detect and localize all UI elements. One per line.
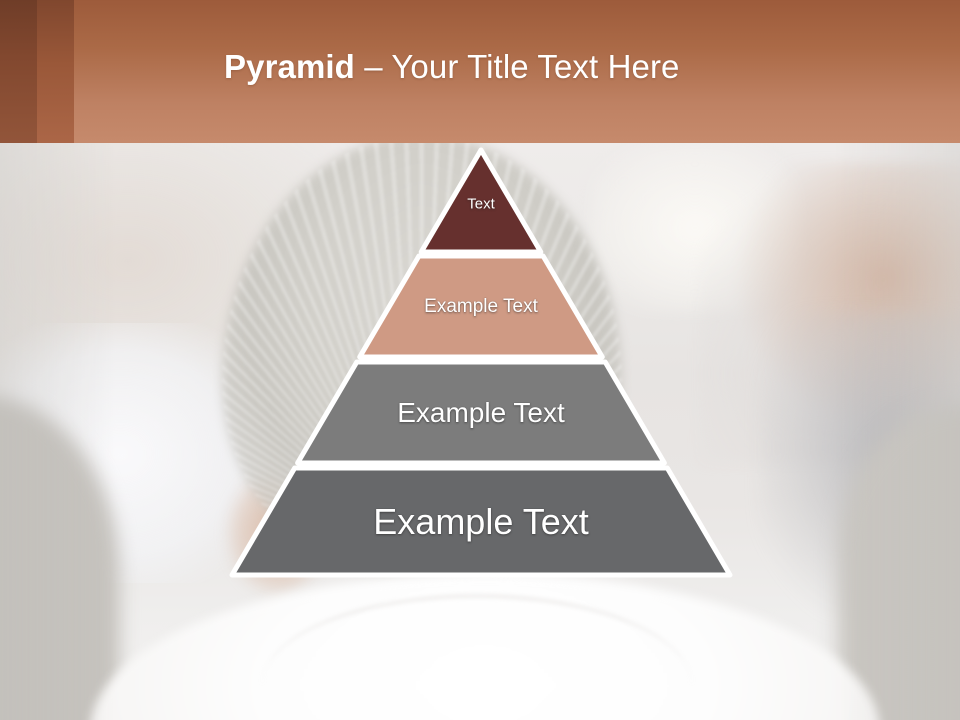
title-banner: Pyramid – Your Title Text Here xyxy=(0,0,960,143)
accent-band-dark xyxy=(0,0,37,143)
page-title-strong: Pyramid xyxy=(224,48,355,85)
page-title-dash: – xyxy=(355,48,391,85)
page-title-rest: Your Title Text Here xyxy=(391,48,679,85)
slide-canvas: Pyramid – Your Title Text Here Text Exam… xyxy=(0,0,960,720)
pyramid-tier-1-label[interactable]: Text xyxy=(467,196,495,213)
page-title[interactable]: Pyramid – Your Title Text Here xyxy=(224,46,680,88)
pyramid-tier-4-label[interactable]: Example Text xyxy=(373,501,588,543)
pyramid-tier-3-label[interactable]: Example Text xyxy=(397,397,565,429)
pyramid-tier-2-label[interactable]: Example Text xyxy=(424,296,538,318)
photo-vignette xyxy=(0,143,960,720)
background-photo xyxy=(0,143,960,720)
accent-band-mid xyxy=(37,0,74,143)
